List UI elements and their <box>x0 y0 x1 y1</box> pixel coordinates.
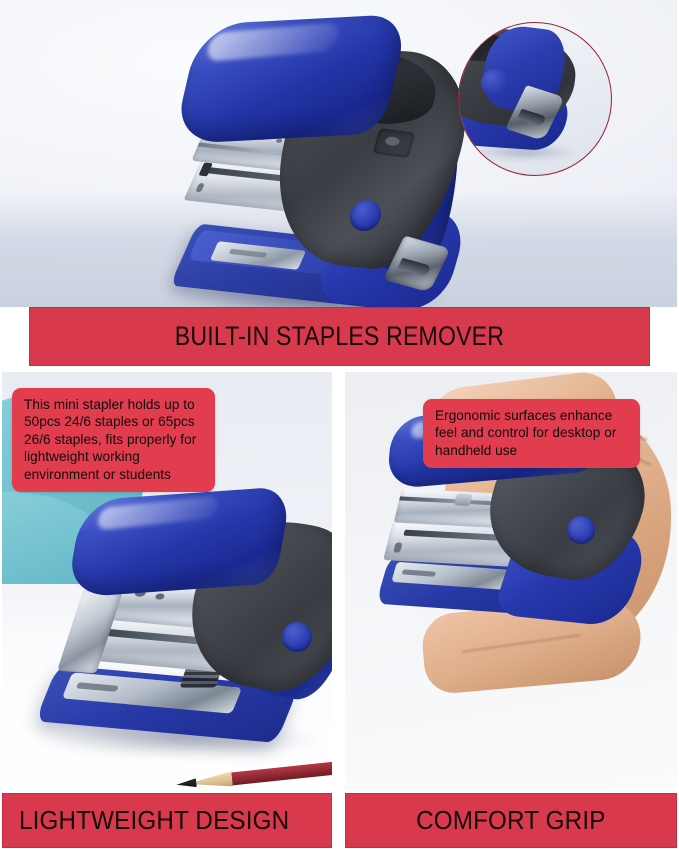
callout-ergonomic-surfaces: Ergonomic surfaces enhance feel and cont… <box>423 399 640 468</box>
banner-bottom-left-label: LIGHTWEIGHT DESIGN <box>19 805 289 836</box>
pencil-lead <box>176 778 197 789</box>
magazine-hole-small <box>275 139 283 144</box>
callout-lightweight-specs: This mini stapler holds up to 50pcs 24/6… <box>12 388 215 492</box>
stapler-product-image-desk <box>42 494 332 774</box>
stapler-badge <box>373 128 416 158</box>
banner-comfort-grip: COMFORT GRIP <box>345 793 677 848</box>
pencil-wood-tip <box>192 771 233 790</box>
panel-staples-remover <box>0 0 679 307</box>
banner-lightweight-design: LIGHTWEIGHT DESIGN <box>2 793 332 848</box>
panel-gap-vertical <box>332 366 345 849</box>
inset-button-dot <box>481 69 508 96</box>
banner-top-label: BUILT-IN STAPLES REMOVER <box>175 321 504 352</box>
magazine-cap <box>454 493 473 506</box>
banner-built-in-staples-remover: BUILT-IN STAPLES REMOVER <box>29 307 650 366</box>
stapler-blue-button-dot <box>567 516 595 544</box>
magazine-pin <box>393 542 402 552</box>
sheet-left-edge <box>0 307 2 849</box>
magazine-hole-small <box>154 593 165 600</box>
stapler-blue-button-dot <box>282 622 312 652</box>
infographic-sheet: BUILT-IN STAPLES REMOVER <box>0 0 679 849</box>
magazine-pin <box>195 183 205 193</box>
banner-bottom-right-label: COMFORT GRIP <box>416 805 605 836</box>
staples-remover-zoom-circle <box>458 22 612 176</box>
stapler-product-image-main <box>178 18 454 303</box>
